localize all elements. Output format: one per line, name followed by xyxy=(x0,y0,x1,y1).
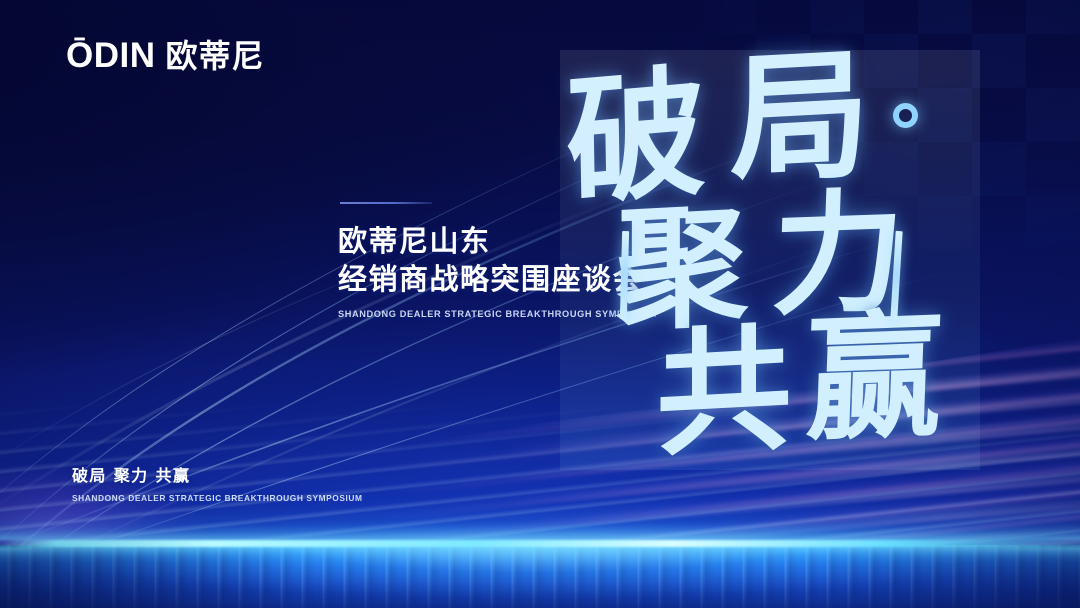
brand-logo-cjk: 欧蒂尼 xyxy=(166,40,265,72)
horizon-light-line xyxy=(0,540,1080,547)
footer-tagline-english: SHANDONG DEALER STRATEGIC BREAKTHROUGH S… xyxy=(72,493,363,503)
hero-char-gong: 共 xyxy=(656,328,798,458)
hero-degree-ring-icon xyxy=(893,103,918,128)
title-divider-rule xyxy=(340,202,432,204)
footer-tagline: 破局 聚力 共赢 SHANDONG DEALER STRATEGIC BREAK… xyxy=(72,466,363,503)
event-banner: ŌDIN 欧蒂尼 欧蒂尼山东 经销商战略突围座谈会 SHANDONG DEALE… xyxy=(0,0,1080,608)
footer-tagline-chinese: 破局 聚力 共赢 xyxy=(72,466,363,485)
brand-logo-latin: ŌDIN xyxy=(66,38,156,73)
brand-logo: ŌDIN 欧蒂尼 xyxy=(66,38,265,73)
hero-char-po: 破 xyxy=(565,70,711,209)
hero-char-ju: 局 xyxy=(730,52,874,186)
hero-char-ying: 赢 xyxy=(804,315,950,443)
